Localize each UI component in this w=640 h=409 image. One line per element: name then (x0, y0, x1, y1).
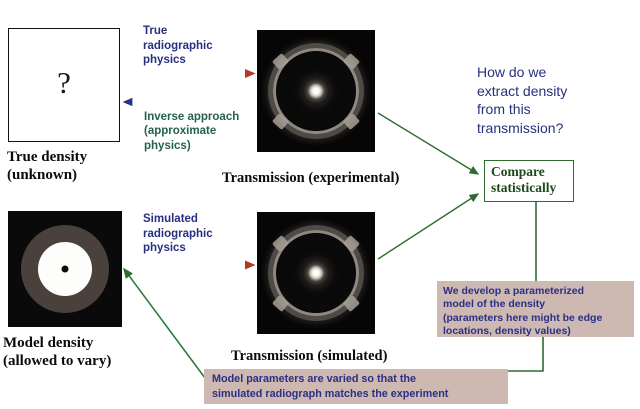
annotation-question-line2: extract density (477, 82, 567, 101)
label-inverse-approach-line1: Inverse approach (144, 110, 239, 124)
label-inverse-approach-line3: physics) (144, 139, 239, 153)
label-true-physics-line3: physics (143, 53, 213, 68)
arrow-bottom-callout-to-model-density (124, 269, 205, 378)
callout-model-variation-line2: simulated radiograph matches the experim… (212, 387, 503, 402)
callout-parameterized-model-line3: (parameters here might be edge (443, 312, 629, 325)
model-density-caption: Model density (allowed to vary) (3, 334, 111, 370)
transmission-simulated-caption: Transmission (simulated) (231, 348, 387, 365)
model-density-caption-line1: Model density (3, 334, 111, 352)
annotation-question-line3: from this (477, 100, 567, 119)
label-simulated-physics-line1: Simulated (143, 212, 213, 227)
annotation-question-line1: How do we (477, 63, 567, 82)
transmission-sim-hotspot (294, 251, 338, 295)
label-true-radiographic-physics: True radiographic physics (143, 24, 213, 68)
transmission-simulated-image (257, 212, 375, 334)
label-simulated-radiographic-physics: Simulated radiographic physics (143, 212, 213, 256)
label-simulated-physics-line3: physics (143, 241, 213, 256)
callout-parameterized-model-line4: locations, density values) (443, 325, 629, 338)
label-inverse-approach: Inverse approach (approximate physics) (144, 110, 239, 153)
callout-parameterized-model-line1: We develop a parameterized (443, 285, 629, 298)
true-density-caption: True density (unknown) (7, 148, 87, 184)
transmission-experimental-caption: Transmission (experimental) (222, 170, 399, 187)
transmission-exp-hotspot (294, 69, 338, 113)
model-density-center-dot (62, 266, 69, 273)
connector-model-callout-to-bottom-callout (508, 337, 543, 371)
transmission-experimental-image (257, 30, 375, 152)
arrow-experimental-to-compare (378, 113, 478, 174)
model-density-caption-line2: (allowed to vary) (3, 352, 111, 370)
compare-statistically-box: Compare statistically (484, 160, 574, 202)
model-density-image (8, 211, 122, 327)
arrow-simulated-to-compare (378, 194, 478, 259)
true-density-box: ? (8, 28, 120, 142)
callout-parameterized-model-line2: model of the density (443, 298, 629, 311)
true-density-caption-line1: True density (7, 148, 87, 166)
label-true-physics-line2: radiographic (143, 39, 213, 54)
annotation-question-line4: transmission? (477, 119, 567, 138)
label-true-physics-line1: True (143, 24, 213, 39)
callout-model-variation-line1: Model parameters are varied so that the (212, 372, 503, 387)
question-mark-symbol: ? (9, 29, 119, 141)
compare-statistically-line2: statistically (491, 180, 568, 196)
compare-statistically-line1: Compare (491, 164, 568, 180)
callout-model-variation: Model parameters are varied so that the … (204, 369, 508, 404)
callout-parameterized-model: We develop a parameterized model of the … (437, 281, 634, 337)
label-inverse-approach-line2: (approximate (144, 124, 239, 138)
label-simulated-physics-line2: radiographic (143, 227, 213, 242)
true-density-caption-line2: (unknown) (7, 166, 87, 184)
annotation-question: How do we extract density from this tran… (477, 63, 567, 137)
